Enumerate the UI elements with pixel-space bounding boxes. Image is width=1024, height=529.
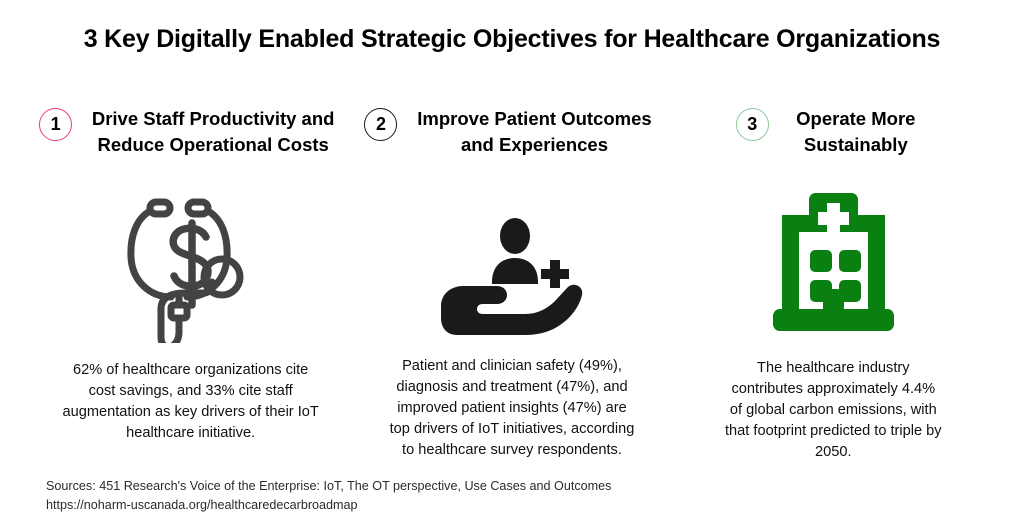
objective-1-number-badge: 1 (39, 108, 72, 141)
objective-1-heading-row: 1 Drive Staff Productivity and Reduce Op… (30, 92, 351, 159)
objective-3-number-badge: 3 (736, 108, 769, 141)
sources-block: Sources: 451 Research's Voice of the Ent… (46, 477, 611, 515)
objective-2-number-badge: 2 (364, 108, 397, 141)
page-title: 3 Key Digitally Enabled Strategic Object… (0, 25, 1024, 54)
sources-line-1: Sources: 451 Research's Voice of the Ent… (46, 477, 611, 496)
objective-3-icon-wrap (771, 175, 896, 350)
objective-2-caption: Patient and clinician safety (49%), diag… (386, 356, 638, 462)
objective-1-icon-wrap (116, 181, 266, 356)
objective-3-title: Operate More Sustainably (781, 106, 931, 159)
objective-3-heading-row: 3 Operate More Sustainably (673, 92, 994, 159)
objective-2-icon-wrap (437, 189, 587, 364)
objectives-columns: 1 Drive Staff Productivity and Reduce Op… (30, 92, 994, 463)
objective-3-caption: The healthcare industry contributes appr… (724, 358, 942, 464)
sources-line-2[interactable]: https://noharm-uscanada.org/healthcarede… (46, 496, 611, 515)
objective-column-1: 1 Drive Staff Productivity and Reduce Op… (30, 92, 351, 444)
objective-2-title: Improve Patient Outcomes and Experiences (409, 106, 659, 159)
objective-1-title: Drive Staff Productivity and Reduce Oper… (84, 106, 342, 159)
objective-column-3: 3 Operate More Sustainably (673, 92, 994, 463)
objective-2-heading-row: 2 Improve Patient Outcomes and Experienc… (351, 92, 672, 159)
hospital-building-icon (771, 192, 896, 332)
objective-column-2: 2 Improve Patient Outcomes and Experienc… (351, 92, 672, 461)
hand-holding-patient-icon (437, 214, 587, 339)
stethoscope-dollar-icon (116, 193, 266, 343)
objective-1-caption: 62% of healthcare organizations cite cos… (59, 360, 323, 445)
